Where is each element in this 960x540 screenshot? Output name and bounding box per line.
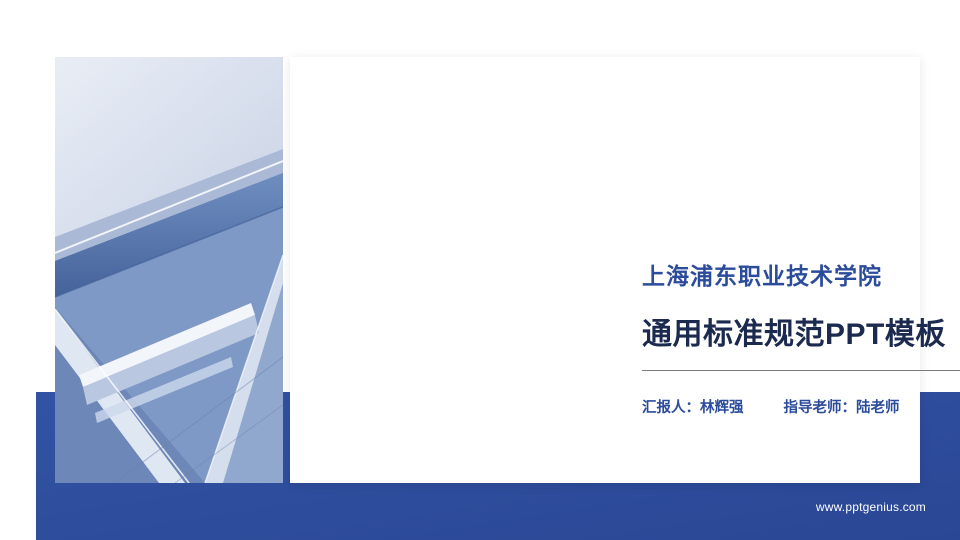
advisor-label: 指导老师：陆老师 bbox=[784, 400, 900, 416]
footer-url: www.pptgenius.com bbox=[816, 500, 926, 514]
title-divider bbox=[642, 370, 960, 371]
cover-photo bbox=[55, 57, 283, 483]
presentation-slide: SPIC 上海浦东职业技术学院 通用标准规范PPT模板 汇报人：林辉强 指导老师… bbox=[0, 0, 960, 540]
university-name: 上海浦东职业技术学院 bbox=[642, 257, 882, 291]
presenter-label: 汇报人：林辉强 bbox=[642, 400, 744, 416]
content-card: SPIC 上海浦东职业技术学院 通用标准规范PPT模板 汇报人：林辉强 指导老师… bbox=[290, 57, 920, 483]
left-white-margin bbox=[0, 0, 36, 540]
page-title: 通用标准规范PPT模板 bbox=[642, 309, 946, 353]
credits-row: 汇报人：林辉强 指导老师：陆老师 bbox=[642, 396, 900, 417]
